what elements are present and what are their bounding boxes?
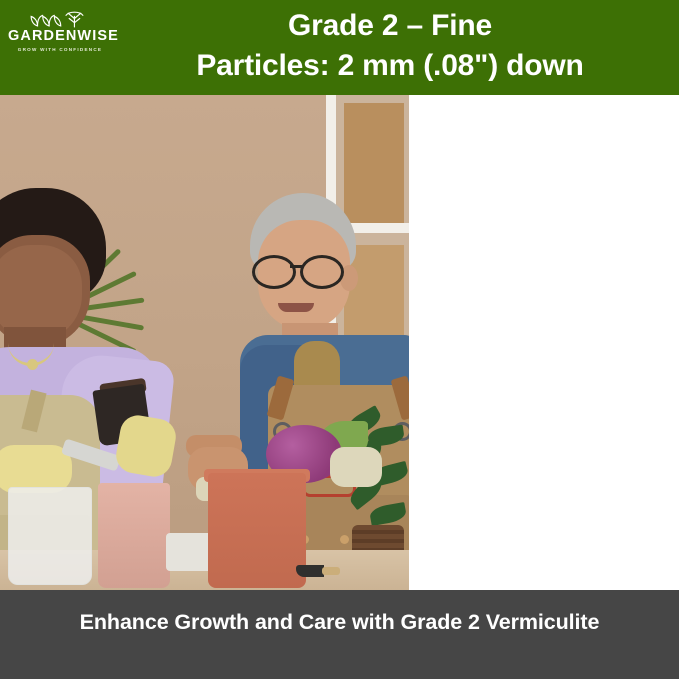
photo-terracotta-pot	[208, 473, 306, 588]
photo-perlite-container	[166, 533, 214, 571]
photo-woman-pendant	[27, 359, 38, 370]
photo-pink-ceramic-pot	[98, 483, 170, 588]
header-title-line2: Particles: 2 mm (.08") down	[112, 46, 668, 86]
header-band: GARDENWISE GROW WITH CONFIDENCE Grade 2 …	[0, 0, 679, 95]
logo-wordmark: GARDENWISE	[8, 29, 112, 44]
photo-shelf-interior-top	[344, 103, 404, 223]
photo-clear-plastic-pot	[8, 487, 92, 585]
sprout-leaves-icon	[28, 9, 91, 28]
photo-man-glasses	[252, 255, 352, 283]
photo-small-hand-trowel	[296, 565, 340, 577]
brand-logo: GARDENWISE GROW WITH CONFIDENCE	[8, 9, 112, 54]
header-title-line1: Grade 2 – Fine	[288, 9, 492, 42]
logo-tagline: GROW WITH CONFIDENCE	[8, 46, 112, 54]
photo-man-glove	[330, 447, 382, 487]
photo-man-smile	[278, 303, 314, 312]
bottom-banner-text: Enhance Growth and Care with Grade 2 Ver…	[40, 607, 639, 637]
product-lifestyle-photo	[0, 95, 409, 590]
bottom-banner: Enhance Growth and Care with Grade 2 Ver…	[0, 590, 679, 679]
header-title: Grade 2 – Fine Particles: 2 mm (.08") do…	[112, 6, 668, 86]
benefits-panel: Perfect for Indoor Plants and Flowers Re…	[409, 95, 679, 590]
photo-man-undershirt	[294, 341, 340, 385]
infographic-page: GARDENWISE GROW WITH CONFIDENCE Grade 2 …	[0, 0, 679, 679]
